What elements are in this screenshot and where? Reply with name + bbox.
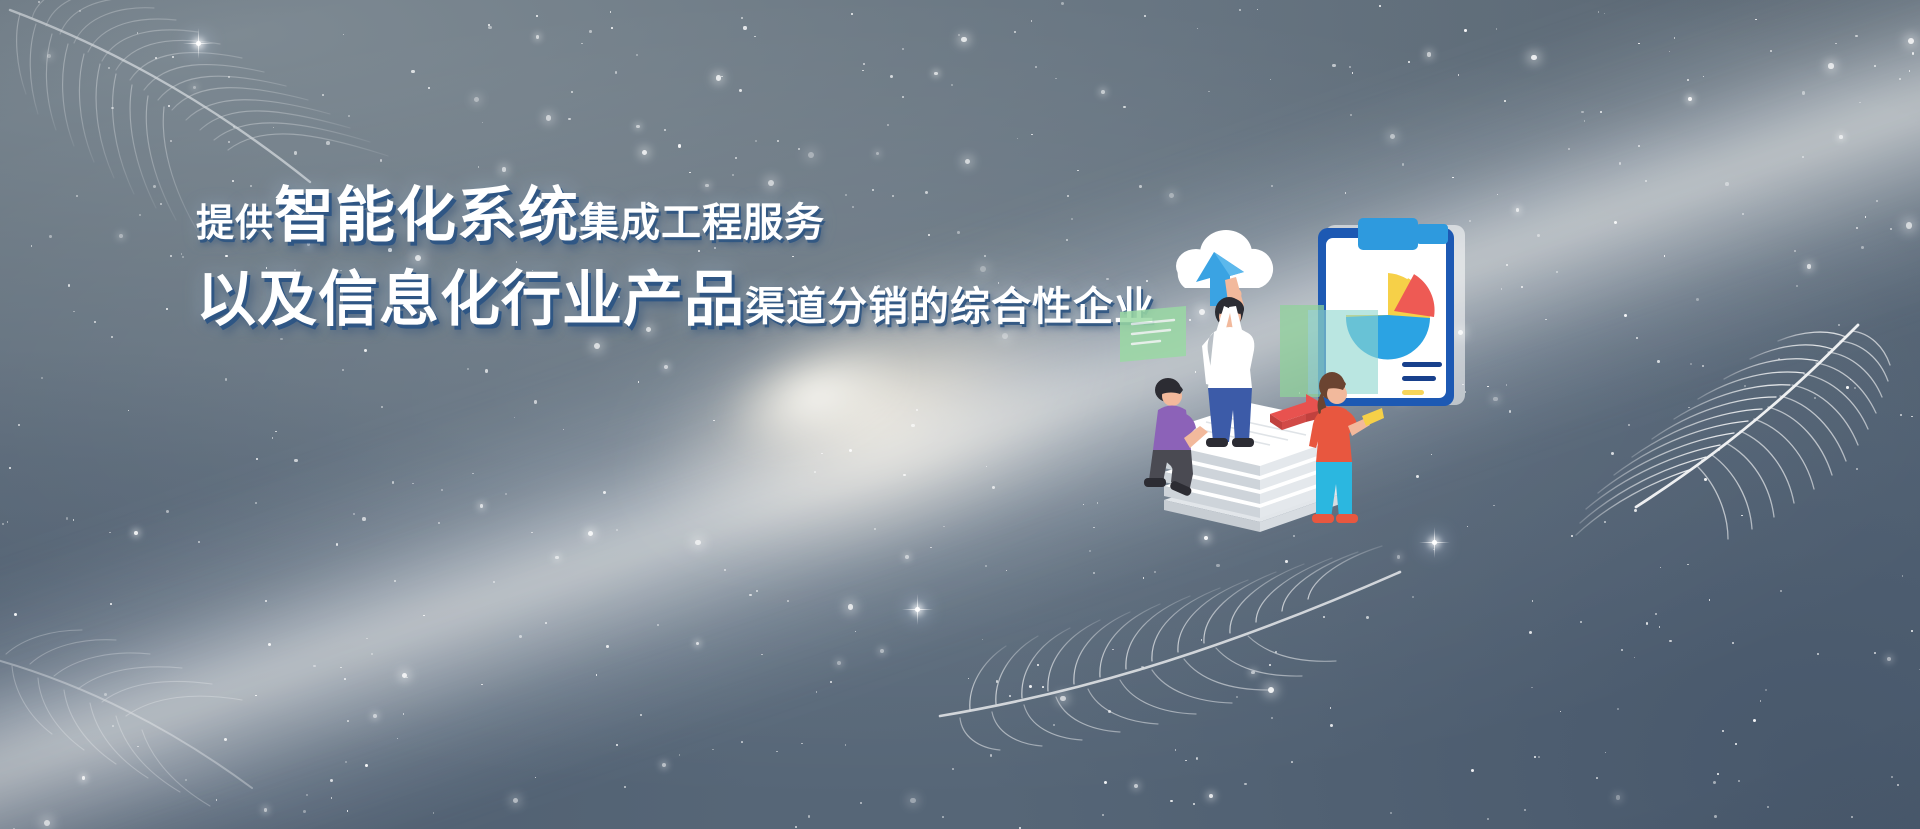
bright-star-icon [196, 41, 201, 46]
bright-star-icon [915, 607, 920, 612]
business-analytics-illustration [1130, 210, 1490, 555]
green-panel-left [1120, 306, 1186, 362]
hero-banner: 提供智能化系统集成工程服务 以及信息化行业产品渠道分销的综合性企业 [0, 0, 1920, 829]
